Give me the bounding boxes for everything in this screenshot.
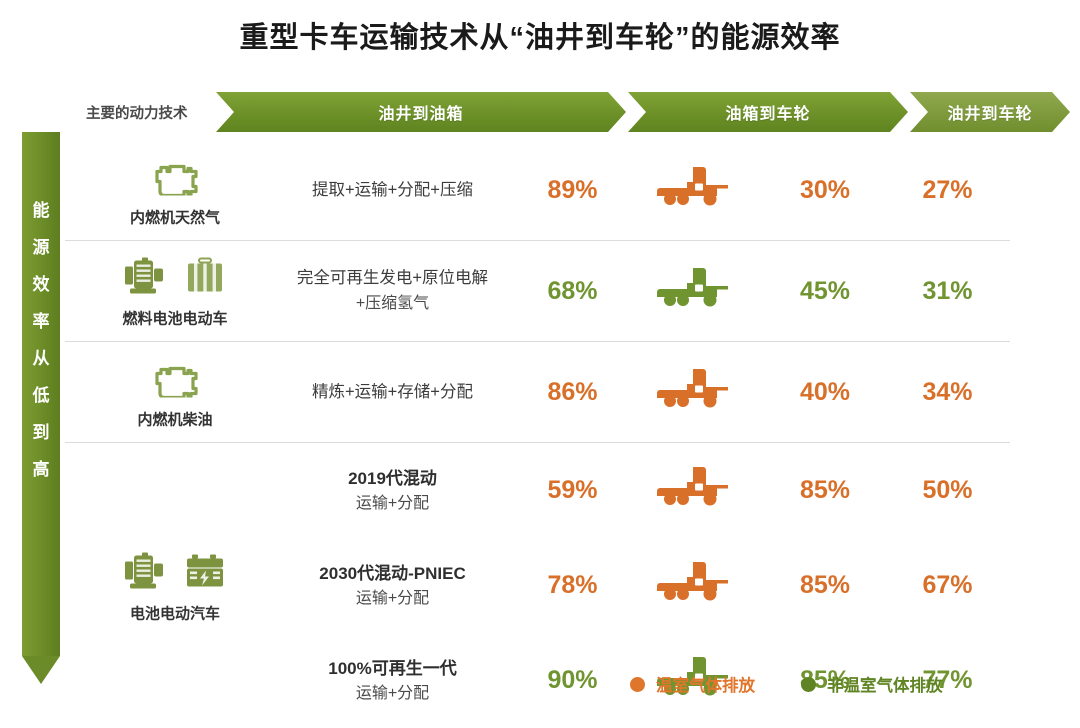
energy-efficiency-arrow-label: 能源效率从低到高	[22, 192, 60, 488]
technology-label-block: 电池电动汽车	[85, 548, 265, 623]
tank-to-wheel-value: 85%	[765, 476, 885, 505]
well-to-tank-value: 89%	[520, 176, 625, 205]
truck-icon-cell	[625, 558, 765, 613]
energy-arrow-char: 到	[22, 414, 60, 451]
technology-label-block: 燃料电池电动车	[85, 254, 265, 329]
process-cell: 2030代混动-PNIEC运输+分配	[265, 561, 520, 611]
legend-item-ghg: 温室气体排放	[630, 672, 755, 696]
technology-name: 内燃机柴油	[85, 409, 265, 430]
well-to-wheel-value: 50%	[885, 476, 1010, 505]
efficiency-table: 提取+运输+分配+压缩89% 30%27% 内燃机天然气完全可再生发电+原位电解…	[65, 140, 1010, 728]
technology-name: 电池电动汽车	[85, 602, 265, 623]
stage-header-row: 主要的动力技术 油井到油箱 油箱到车轮 油井到车轮	[0, 92, 1080, 132]
technology-row-group: 提取+运输+分配+压缩89% 30%27% 内燃机天然气	[65, 140, 1010, 241]
motor-icon	[122, 257, 168, 302]
well-to-tank-value: 90%	[520, 666, 625, 695]
technology-cell	[65, 443, 265, 538]
truck-icon	[657, 463, 733, 513]
motor-icon	[122, 257, 168, 297]
tank-to-wheel-value: 45%	[765, 277, 885, 306]
technology-icons	[85, 153, 265, 201]
process-cell: 2019代混动运输+分配	[265, 466, 520, 516]
stage-header-tank-to-wheel: 油箱到车轮	[628, 92, 908, 132]
stage-header-well-to-wheel: 油井到车轮	[910, 92, 1070, 132]
process-main-label: 完全可再生发电+原位电解	[265, 266, 520, 291]
motor-icon	[122, 551, 168, 596]
well-to-wheel-value: 27%	[885, 176, 1010, 205]
process-cell: 完全可再生发电+原位电解+压缩氢气	[265, 266, 520, 316]
well-to-wheel-value: 67%	[885, 571, 1010, 600]
process-main-label: 2019代混动	[265, 466, 520, 491]
battery-icon	[182, 551, 228, 591]
truck-icon	[657, 264, 733, 314]
hydrogen-tank-icon	[182, 257, 228, 297]
truck-icon	[657, 365, 733, 415]
energy-arrow-char: 从	[22, 340, 60, 377]
well-to-wheel-value: 31%	[885, 277, 1010, 306]
engine-icon	[152, 158, 198, 196]
well-to-wheel-value: 34%	[885, 378, 1010, 407]
process-cell: 100%可再生一代运输+分配	[265, 656, 520, 706]
well-to-tank-value: 86%	[520, 378, 625, 407]
truck-icon-cell	[625, 463, 765, 518]
legend-dot-ghg	[630, 677, 645, 692]
legend-dot-non-ghg	[801, 677, 816, 692]
legend-item-non-ghg: 非温室气体排放	[801, 672, 943, 696]
process-sub-label: 运输+分配	[265, 681, 520, 706]
energy-efficiency-arrow: 能源效率从低到高	[22, 132, 60, 684]
well-to-tank-value: 78%	[520, 571, 625, 600]
engine-icon	[152, 158, 198, 201]
technology-row-group: 精炼+运输+存储+分配86% 40%34% 内燃机柴油	[65, 342, 1010, 443]
technology-label-block: 内燃机天然气	[85, 153, 265, 228]
process-main-label: 100%可再生一代	[265, 656, 520, 681]
truck-icon-cell	[625, 163, 765, 218]
battery-icon	[182, 551, 228, 596]
energy-arrow-char: 率	[22, 303, 60, 340]
technology-cell	[65, 633, 265, 728]
table-row: 2019代混动运输+分配59% 85%50%	[65, 443, 1010, 538]
tech-column-header: 主要的动力技术	[86, 102, 188, 123]
process-sub-label: 运输+分配	[265, 491, 520, 516]
truck-icon	[657, 163, 733, 213]
energy-arrow-char: 低	[22, 377, 60, 414]
truck-icon	[657, 558, 733, 608]
legend-label: 温室气体排放	[656, 672, 755, 696]
process-sub-label: 运输+分配	[265, 586, 520, 611]
tank-to-wheel-value: 30%	[765, 176, 885, 205]
energy-efficiency-arrow-tip	[22, 656, 60, 684]
engine-icon	[152, 360, 198, 403]
process-main-label: 精炼+运输+存储+分配	[265, 380, 520, 405]
truck-icon-cell	[625, 264, 765, 319]
process-cell: 精炼+运输+存储+分配	[265, 380, 520, 405]
legend: 温室气体排放非温室气体排放	[630, 672, 943, 696]
tank-to-wheel-value: 40%	[765, 378, 885, 407]
well-to-tank-value: 59%	[520, 476, 625, 505]
energy-arrow-char: 高	[22, 451, 60, 488]
technology-icons	[85, 548, 265, 596]
motor-icon	[122, 551, 168, 591]
stage-header-well-to-tank: 油井到油箱	[216, 92, 626, 132]
technology-row-group: 完全可再生发电+原位电解+压缩氢气68% 45%31%	[65, 241, 1010, 342]
technology-name: 燃料电池电动车	[85, 308, 265, 329]
technology-icons	[85, 254, 265, 302]
process-main-label: 提取+运输+分配+压缩	[265, 178, 520, 203]
page-title: 重型卡车运输技术从“油井到车轮”的能源效率	[0, 14, 1080, 56]
energy-arrow-char: 能	[22, 192, 60, 229]
process-sub-label: +压缩氢气	[265, 291, 520, 316]
process-main-label: 2030代混动-PNIEC	[265, 561, 520, 586]
technology-name: 内燃机天然气	[85, 207, 265, 228]
engine-icon	[152, 360, 198, 398]
technology-icons	[85, 355, 265, 403]
truck-icon-cell	[625, 365, 765, 420]
technology-label-block: 内燃机柴油	[85, 355, 265, 430]
hydrogen-tank-icon	[182, 257, 228, 302]
legend-label: 非温室气体排放	[827, 672, 943, 696]
process-cell: 提取+运输+分配+压缩	[265, 178, 520, 203]
tank-to-wheel-value: 85%	[765, 571, 885, 600]
energy-arrow-char: 效	[22, 266, 60, 303]
well-to-tank-value: 68%	[520, 277, 625, 306]
energy-arrow-char: 源	[22, 229, 60, 266]
